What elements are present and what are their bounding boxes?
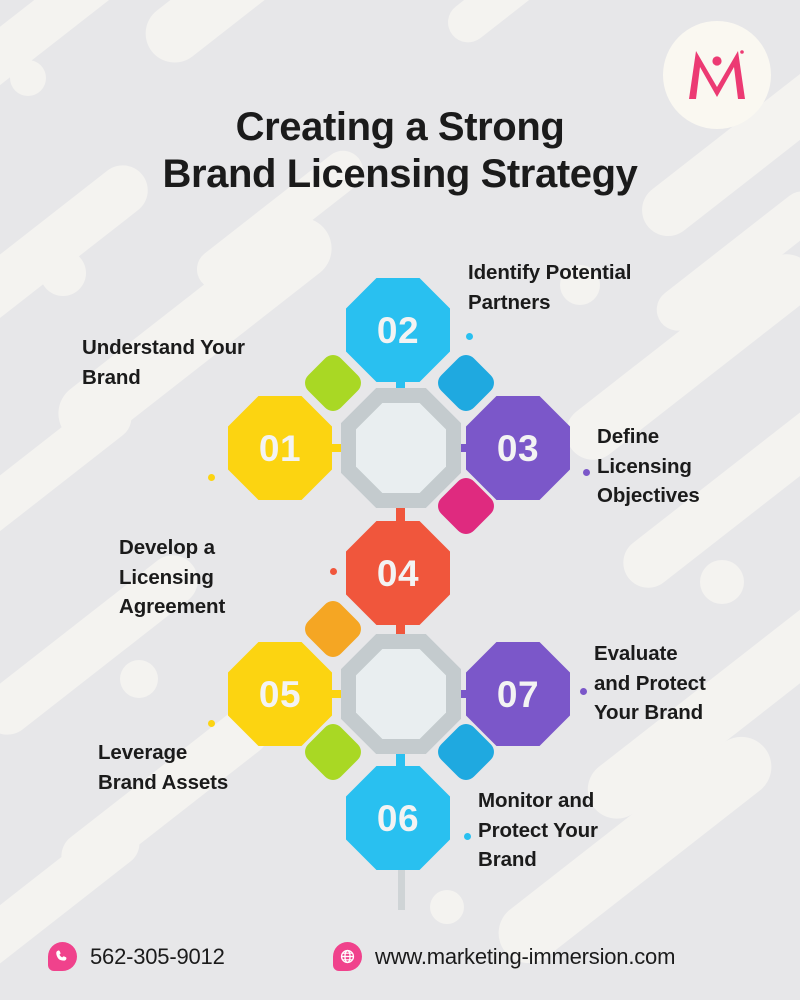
step-number-02: 02	[377, 312, 419, 349]
step-label-04: Develop a Licensing Agreement	[119, 533, 319, 622]
step-number-07: 07	[497, 676, 539, 713]
infographic-canvas: Creating a Strong Brand Licensing Strate…	[0, 0, 800, 1000]
step-label-06-line-2: Protect Your	[478, 819, 598, 842]
contact-phone[interactable]: 562-305-9012	[48, 942, 225, 971]
hub-top	[341, 388, 461, 508]
step-label-07: Evaluate and Protect Your Brand	[594, 639, 784, 728]
step-number-03: 03	[497, 430, 539, 467]
step-node-01[interactable]: 01	[228, 396, 332, 500]
step-label-05-line-2: Brand Assets	[98, 771, 228, 794]
step-label-02-line-2: Partners	[468, 291, 550, 314]
step-node-02[interactable]: 02	[346, 278, 450, 382]
step-node-05[interactable]: 05	[228, 642, 332, 746]
step-label-02: Identify Potential Partners	[468, 258, 698, 317]
step-bullet-06	[464, 833, 471, 840]
step-label-04-line-2: Licensing	[119, 566, 214, 589]
step-label-05-line-1: Leverage	[98, 741, 187, 764]
globe-icon	[333, 942, 362, 971]
step-number-04: 04	[377, 555, 419, 592]
step-label-01-line-2: Brand	[82, 366, 141, 389]
step-bullet-02	[466, 333, 473, 340]
step-label-03-line-1: Define	[597, 425, 659, 448]
step-label-02-line-1: Identify Potential	[468, 261, 631, 284]
step-bullet-03	[583, 469, 590, 476]
contact-website[interactable]: www.marketing-immersion.com	[333, 942, 675, 971]
step-node-07[interactable]: 07	[466, 642, 570, 746]
step-label-06-line-1: Monitor and	[478, 789, 594, 812]
step-label-01: Understand Your Brand	[82, 333, 297, 392]
hub-bottom	[341, 634, 461, 754]
step-label-04-line-1: Develop a	[119, 536, 215, 559]
step-label-07-line-1: Evaluate	[594, 642, 678, 665]
step-number-01: 01	[259, 430, 301, 467]
step-number-06: 06	[377, 800, 419, 837]
step-bullet-01	[208, 474, 215, 481]
step-node-04[interactable]: 04	[346, 521, 450, 625]
step-bullet-05	[208, 720, 215, 727]
step-label-03-line-2: Licensing	[597, 455, 692, 478]
title-line-1: Creating a Strong	[236, 105, 565, 149]
step-label-01-line-1: Understand Your	[82, 336, 245, 359]
step-bullet-07	[580, 688, 587, 695]
step-label-05: Leverage Brand Assets	[98, 738, 313, 797]
step-label-04-line-3: Agreement	[119, 595, 225, 618]
step-number-05: 05	[259, 676, 301, 713]
step-node-03[interactable]: 03	[466, 396, 570, 500]
website-url: www.marketing-immersion.com	[375, 944, 675, 970]
step-label-03-line-3: Objectives	[597, 484, 700, 507]
title-line-2: Brand Licensing Strategy	[0, 151, 800, 198]
hub-bottom-inner	[356, 649, 446, 739]
step-label-07-line-3: Your Brand	[594, 701, 703, 724]
phone-glyph	[54, 948, 71, 965]
step-bullet-04	[330, 568, 337, 575]
phone-number: 562-305-9012	[90, 944, 225, 970]
mim-monogram-icon	[663, 21, 771, 129]
step-label-07-line-2: and Protect	[594, 672, 706, 695]
hub-top-inner	[356, 403, 446, 493]
brand-logo	[663, 21, 771, 129]
footer-contact-bar: 562-305-9012 www.marketing-immersion.com	[0, 928, 800, 1000]
step-label-06: Monitor and Protect Your Brand	[478, 786, 678, 875]
step-label-06-line-3: Brand	[478, 848, 537, 871]
step-label-03: Define Licensing Objectives	[597, 422, 777, 511]
globe-glyph	[339, 948, 356, 965]
phone-icon	[48, 942, 77, 971]
step-node-06[interactable]: 06	[346, 766, 450, 870]
